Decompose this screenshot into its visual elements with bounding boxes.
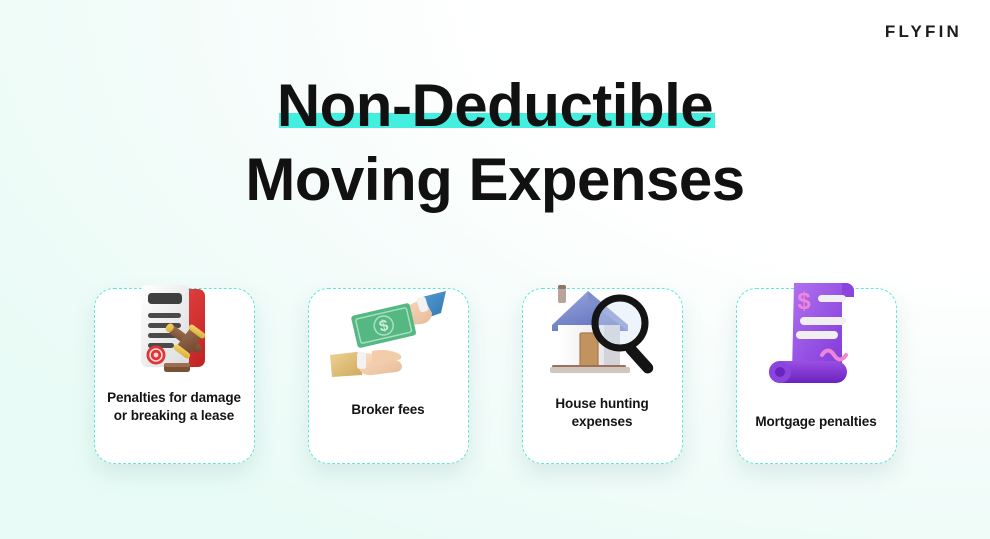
expense-card-label: House hunting expenses (523, 395, 682, 431)
title-line-1: Non-Deductible (277, 72, 713, 139)
expense-card-label: Broker fees (345, 401, 430, 419)
flyfin-logo: FLYFIN (885, 22, 962, 42)
money-exchange-hands-icon: $ (328, 283, 448, 403)
svg-text:$: $ (797, 288, 811, 315)
page-title: Non-Deductible Moving Expenses (0, 76, 990, 210)
title-line-2: Moving Expenses (0, 150, 990, 210)
house-magnifying-glass-icon (542, 279, 662, 399)
expense-card-list: Penalties for damage or breaking a lease (0, 288, 990, 464)
expense-card[interactable]: $ Broker fees (308, 288, 469, 464)
expense-card[interactable]: $ Mortgage penalties (736, 288, 897, 464)
legal-document-gavel-icon (114, 275, 234, 395)
expense-card-label: Mortgage penalties (749, 413, 882, 431)
expense-card[interactable]: Penalties for damage or breaking a lease (94, 288, 255, 464)
mortgage-scroll-icon: $ (756, 271, 876, 391)
expense-card[interactable]: House hunting expenses (522, 288, 683, 464)
